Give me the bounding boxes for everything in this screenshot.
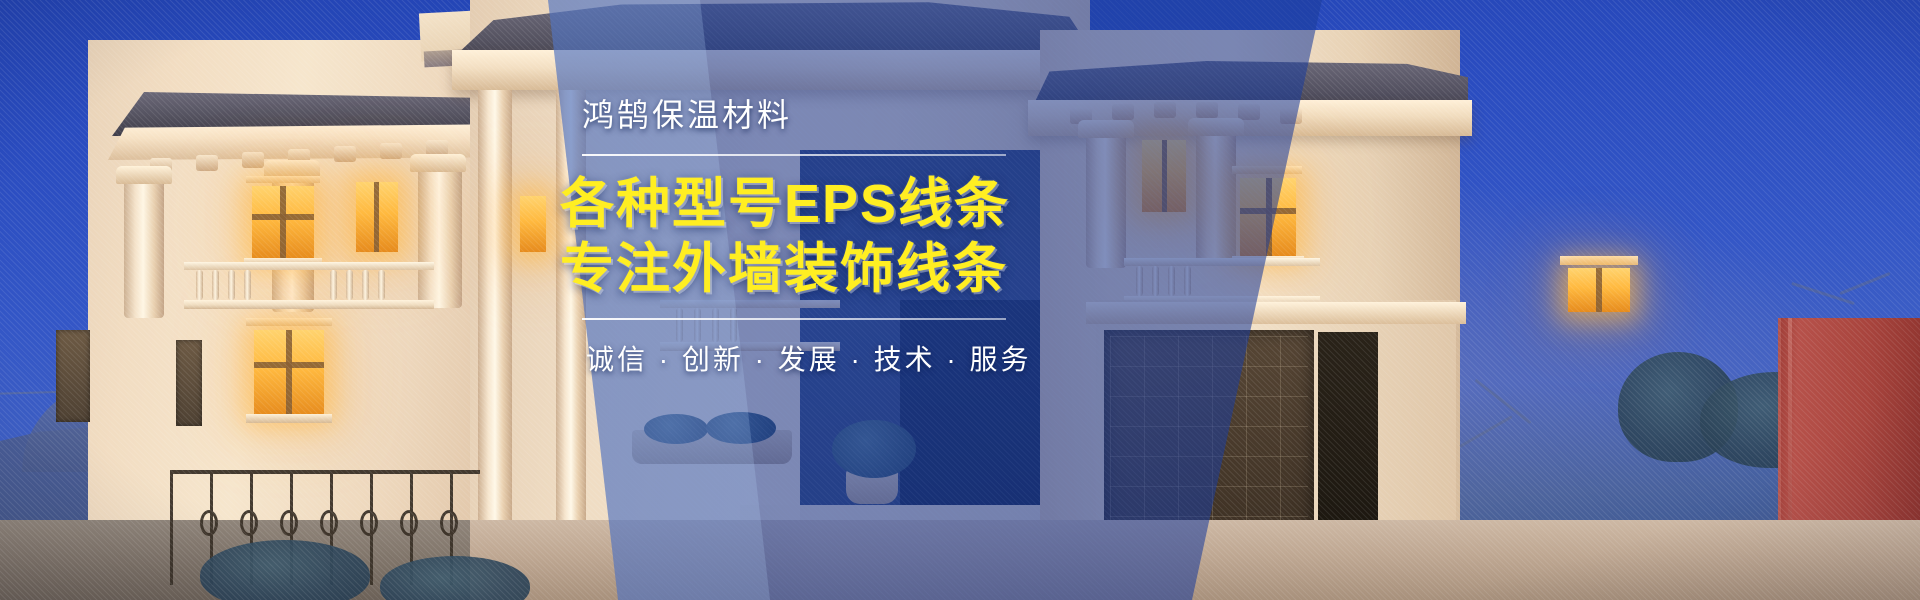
- baluster: [346, 270, 353, 300]
- dark-window: [176, 340, 202, 426]
- balcony-rail: [184, 262, 434, 270]
- column: [124, 178, 164, 318]
- railing-bar: [170, 470, 173, 585]
- window-header: [246, 318, 332, 326]
- baluster: [228, 270, 235, 300]
- railing-ornament: [280, 510, 298, 536]
- balcony-base: [184, 300, 434, 309]
- railing-ornament: [400, 510, 418, 536]
- garage-opening: [1318, 332, 1378, 550]
- railing-top-bar: [170, 470, 480, 474]
- company-name: 鸿鹄保温材料: [556, 96, 1316, 134]
- baluster: [330, 270, 337, 300]
- window-transom: [252, 214, 314, 220]
- headline-line-1: 各种型号EPS线条: [556, 172, 1316, 237]
- headline-line-2: 专注外墙装饰线条: [556, 237, 1316, 302]
- baluster: [244, 270, 251, 300]
- column: [418, 166, 462, 308]
- railing-ornament: [440, 510, 458, 536]
- plant: [644, 414, 708, 444]
- hero-banner: 鸿鹄保温材料 各种型号EPS线条 专注外墙装饰线条 诚信 · 创新 · 发展 ·…: [0, 0, 1920, 600]
- banner-copy: 鸿鹄保温材料 各种型号EPS线条 专注外墙装饰线条 诚信 · 创新 · 发展 ·…: [556, 96, 1316, 378]
- baluster: [362, 270, 369, 300]
- window-header: [1560, 256, 1638, 265]
- column-capital: [116, 166, 172, 184]
- window-mullion: [286, 330, 292, 416]
- baluster: [378, 270, 385, 300]
- baluster: [196, 270, 203, 300]
- dentil: [334, 146, 356, 162]
- divider-top: [582, 154, 1006, 156]
- dark-window: [56, 330, 90, 422]
- divider-bottom: [582, 318, 1006, 320]
- railing-ornament: [320, 510, 338, 536]
- baluster: [212, 270, 219, 300]
- window-sill: [246, 414, 332, 423]
- window-mullion: [374, 182, 379, 252]
- railing-ornament: [240, 510, 258, 536]
- left-wing-cornice: [108, 124, 528, 160]
- center-cornice: [452, 50, 1100, 90]
- dentil: [196, 155, 218, 171]
- tagline: 诚信 · 创新 · 发展 · 技术 · 服务: [556, 338, 1316, 378]
- glowing-window: [520, 196, 546, 252]
- railing-ornament: [200, 510, 218, 536]
- railing-ornament: [360, 510, 378, 536]
- window-mullion: [1596, 268, 1602, 312]
- plant: [706, 412, 776, 444]
- window-transom: [254, 362, 324, 368]
- pilaster: [478, 90, 512, 520]
- potted-shrub: [832, 420, 916, 478]
- window-mullion: [280, 186, 286, 260]
- dentil: [242, 152, 264, 168]
- dentil: [380, 143, 402, 159]
- window-header: [246, 176, 320, 183]
- column-capital: [410, 154, 466, 172]
